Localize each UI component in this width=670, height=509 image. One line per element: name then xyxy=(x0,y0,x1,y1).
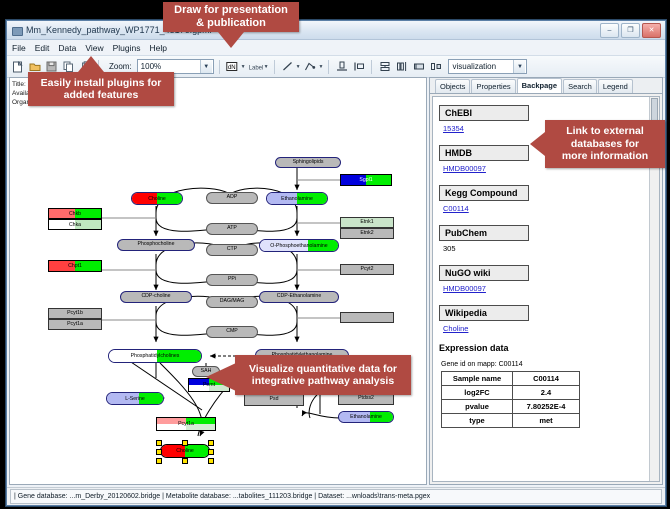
maximize-button[interactable]: ❐ xyxy=(621,23,640,38)
gene-sgpl1[interactable]: Sgpl1 xyxy=(340,174,392,186)
node-label: ADP xyxy=(227,195,238,200)
label-tool[interactable]: Label ▼ xyxy=(248,59,269,74)
expression-table: Sample name C00114 log2FC 2.4 pvalue 7.8… xyxy=(441,371,580,428)
node-label: CMP xyxy=(226,329,238,334)
node-phosphocholine[interactable]: Phosphocholine xyxy=(117,239,195,251)
visualization-combo[interactable]: visualization ▼ xyxy=(448,59,527,74)
tab-backpage[interactable]: Backpage xyxy=(517,78,562,93)
menu-data[interactable]: Data xyxy=(58,43,76,53)
node-atp[interactable]: ATP xyxy=(206,223,258,235)
shape-tool[interactable]: ▼ xyxy=(303,59,324,74)
statusbar-text: | Gene database: ...m_Derby_20120602.bri… xyxy=(10,489,662,504)
section-header-kegg: Kegg Compound xyxy=(439,185,529,201)
line-icon[interactable] xyxy=(280,59,295,74)
node-sphingolipids[interactable]: Sphingolipids xyxy=(275,157,341,168)
new-file-icon[interactable] xyxy=(10,59,25,74)
node-dag-mag[interactable]: DAG/MAG xyxy=(206,296,258,308)
node-label: Psd xyxy=(270,397,279,402)
node-label: L-Serine xyxy=(107,396,163,402)
callout-links-text: Link to external databases for more info… xyxy=(562,125,648,162)
node-phosphatidylcholines[interactable]: Phosphatidylcholines xyxy=(108,349,202,363)
tab-legend[interactable]: Legend xyxy=(598,79,633,93)
selection-handle[interactable] xyxy=(156,440,162,446)
menubar: File Edit Data View Plugins Help xyxy=(7,40,665,56)
toolbar-separator-5 xyxy=(371,60,372,74)
node-ethanolamine-bottom[interactable]: Ethanolamine xyxy=(338,411,394,423)
selection-handle[interactable] xyxy=(208,458,214,464)
tab-objects[interactable]: Objects xyxy=(435,79,470,93)
toolbar-separator-4 xyxy=(328,60,329,74)
menu-file[interactable]: File xyxy=(12,43,26,53)
gene-chka[interactable]: Chka xyxy=(48,219,102,230)
node-label: CDP-Ethanolamine xyxy=(277,294,321,299)
callout-plugins-text: Easily install plugins for added feature… xyxy=(41,77,162,102)
section-header-hmdb: HMDB xyxy=(439,145,529,161)
gene-pcyt1a[interactable]: Pcyt1a xyxy=(48,319,102,330)
kegg-link[interactable]: C00114 xyxy=(443,204,651,213)
node-label: Pcyt1b xyxy=(67,311,83,316)
cell-key: type xyxy=(442,414,513,428)
zoom-value: 100% xyxy=(141,62,161,71)
expression-data-title: Expression data xyxy=(439,343,651,353)
callout-draw-text: Draw for presentation & publication xyxy=(174,4,288,30)
stack-center-icon[interactable] xyxy=(377,59,392,74)
callout-links: Link to external databases for more info… xyxy=(545,120,665,168)
tab-properties[interactable]: Properties xyxy=(471,79,515,93)
window-titlebar[interactable]: Mm_Kennedy_pathway_WP1771_45176.gpml – ❐… xyxy=(7,21,665,40)
chevron-down-icon[interactable]: ▼ xyxy=(513,60,525,73)
node-label: O-Phosphoethanolamine xyxy=(260,243,338,249)
node-label: CDP-choline xyxy=(141,294,170,299)
section-header-chebi: ChEBI xyxy=(439,105,529,121)
node-label: Pcyt1a xyxy=(67,322,83,327)
menu-plugins[interactable]: Plugins xyxy=(113,43,141,53)
callout-plugins-arrow-icon xyxy=(78,56,104,72)
distribute-icon[interactable] xyxy=(394,59,409,74)
svg-text:dN: dN xyxy=(228,65,236,71)
gene-psd[interactable]: Psd xyxy=(244,394,304,406)
node-cmp[interactable]: CMP xyxy=(206,326,258,338)
table-row: pvalue 7.80252E-4 xyxy=(442,400,580,414)
gene-etnk1[interactable]: Etnk1 xyxy=(340,217,394,228)
node-label: DAG/MAG xyxy=(220,299,245,304)
node-label: Chkb xyxy=(49,211,101,217)
selection-handle[interactable] xyxy=(182,440,188,446)
gene-etnk2[interactable]: Etnk2 xyxy=(340,228,394,239)
cell-key: Sample name xyxy=(442,372,513,386)
node-label: Pcyt1a xyxy=(157,421,215,427)
gene-chpt1[interactable]: Chpt1 xyxy=(48,260,102,272)
selection-handle[interactable] xyxy=(208,449,214,455)
menu-help[interactable]: Help xyxy=(150,43,167,53)
callout-visualize-text: Visualize quantitative data for integrat… xyxy=(249,363,397,388)
node-choline-top[interactable]: Choline xyxy=(131,192,183,205)
tab-search[interactable]: Search xyxy=(563,79,597,93)
close-button[interactable]: ✕ xyxy=(642,23,661,38)
cell-key: log2FC xyxy=(442,386,513,400)
nugo-link[interactable]: HMDB00097 xyxy=(443,284,651,293)
chevron-down-icon[interactable]: ▼ xyxy=(200,60,212,73)
callout-plugins: Easily install plugins for added feature… xyxy=(28,72,174,106)
node-label: Ethanolamine xyxy=(339,414,393,420)
datanode-icon[interactable]: dN xyxy=(225,59,240,74)
node-label: Ptdss2 xyxy=(358,396,374,401)
toolbar-separator-3 xyxy=(274,60,275,74)
callout-links-arrow-icon xyxy=(530,132,545,156)
node-adp[interactable]: ADP xyxy=(206,192,258,204)
menu-view[interactable]: View xyxy=(85,43,103,53)
datanode-tool[interactable]: dN ▼ xyxy=(225,59,246,74)
callout-visualize-arrow-icon xyxy=(206,363,236,391)
callout-draw-arrow-icon xyxy=(218,32,244,48)
section-header-pubchem: PubChem xyxy=(439,225,529,241)
label-icon[interactable]: Label xyxy=(248,59,263,74)
node-cdp-ethanolamine[interactable]: CDP-Ethanolamine xyxy=(259,291,339,303)
node-label: Chka xyxy=(49,222,101,228)
chevron-down-icon[interactable]: ▼ xyxy=(296,64,301,70)
table-row: log2FC 2.4 xyxy=(442,386,580,400)
selection-handle[interactable] xyxy=(182,458,188,464)
align-bottom-icon[interactable] xyxy=(334,59,349,74)
node-l-serine-left[interactable]: L-Serine xyxy=(106,392,164,405)
table-row: Sample name C00114 xyxy=(442,372,580,386)
node-ethanolamine-top[interactable]: Ethanolamine xyxy=(266,192,328,205)
cell-value: met xyxy=(513,414,580,428)
gene-chkb[interactable]: Chkb xyxy=(48,208,102,219)
window-controls: – ❐ ✕ xyxy=(600,23,661,38)
app-icon xyxy=(11,25,22,36)
screenshot-root: Mm_Kennedy_pathway_WP1771_45176.gpml – ❐… xyxy=(0,0,670,509)
node-label: Phosphocholine xyxy=(138,242,175,247)
node-label: Choline xyxy=(161,448,209,454)
node-ppi[interactable]: PPi xyxy=(206,274,258,286)
node-label: ATP xyxy=(227,226,237,231)
callout-visualize: Visualize quantitative data for integrat… xyxy=(235,355,411,395)
align-left-icon[interactable] xyxy=(351,59,366,74)
selection-handle[interactable] xyxy=(156,458,162,464)
node-label: Choline xyxy=(132,196,182,202)
section-header-nugo: NuGO wiki xyxy=(439,265,529,281)
node-label: Ethanolamine xyxy=(267,196,327,202)
section-header-wikipedia: Wikipedia xyxy=(439,305,529,321)
ungroup-icon[interactable] xyxy=(428,59,443,74)
node-label: Etnk1 xyxy=(360,220,373,225)
zoom-label: Zoom: xyxy=(109,62,132,71)
selection-handle[interactable] xyxy=(156,449,162,455)
gene-id-line: Gene id on mapp: C00114 xyxy=(441,361,651,368)
pubchem-value: 305 xyxy=(443,244,651,253)
node-label: Phosphatidylcholines xyxy=(109,353,201,359)
svg-text:Label: Label xyxy=(248,65,262,71)
node-label: Etnk2 xyxy=(360,231,373,236)
line-tool[interactable]: ▼ xyxy=(280,59,301,74)
pathway-canvas[interactable]: Title: Availa Organ xyxy=(9,77,427,485)
node-label: CTP xyxy=(227,247,237,252)
minimize-button[interactable]: – xyxy=(600,23,619,38)
gene-pcyt2[interactable]: Pcyt2 xyxy=(340,264,394,275)
gene-pcyt1a-lower[interactable]: Pcyt1a xyxy=(156,417,216,431)
gene-pcyt1b[interactable]: Pcyt1b xyxy=(48,308,102,319)
chevron-down-icon[interactable]: ▼ xyxy=(241,64,246,70)
wikipedia-link[interactable]: Choline xyxy=(443,324,651,333)
gene-cept1[interactable]: Pcyt2 xyxy=(340,312,394,323)
node-label: PPi xyxy=(228,277,236,282)
cell-value: 2.4 xyxy=(513,386,580,400)
table-row: type met xyxy=(442,414,580,428)
side-panel-tabs: Objects Properties Backpage Search Legen… xyxy=(430,78,662,94)
node-choline-selected[interactable]: Choline xyxy=(160,444,210,458)
toolbar-separator-2 xyxy=(219,60,220,74)
node-cdp-choline[interactable]: CDP-choline xyxy=(120,291,192,303)
cell-value: C00114 xyxy=(513,372,580,386)
statusbar: | Gene database: ...m_Derby_20120602.bri… xyxy=(7,487,665,505)
node-label: Sgpl1 xyxy=(341,177,391,183)
callout-draw: Draw for presentation & publication xyxy=(163,2,299,32)
chevron-down-icon[interactable]: ▼ xyxy=(319,64,324,70)
node-label: Pcyt2 xyxy=(361,267,374,272)
node-ctp[interactable]: CTP xyxy=(206,244,258,256)
arrow-shape-icon[interactable] xyxy=(303,59,318,74)
selection-handle[interactable] xyxy=(208,440,214,446)
node-label: Chpt1 xyxy=(49,263,101,269)
cell-value: 7.80252E-4 xyxy=(513,400,580,414)
node-o-phosphoethanolamine[interactable]: O-Phosphoethanolamine xyxy=(259,239,339,252)
cell-key: pvalue xyxy=(442,400,513,414)
menu-edit[interactable]: Edit xyxy=(35,43,50,53)
node-label: Sphingolipids xyxy=(293,160,324,165)
visualization-value: visualization xyxy=(452,62,496,71)
chevron-down-icon[interactable]: ▼ xyxy=(264,64,269,70)
group-icon[interactable] xyxy=(411,59,426,74)
